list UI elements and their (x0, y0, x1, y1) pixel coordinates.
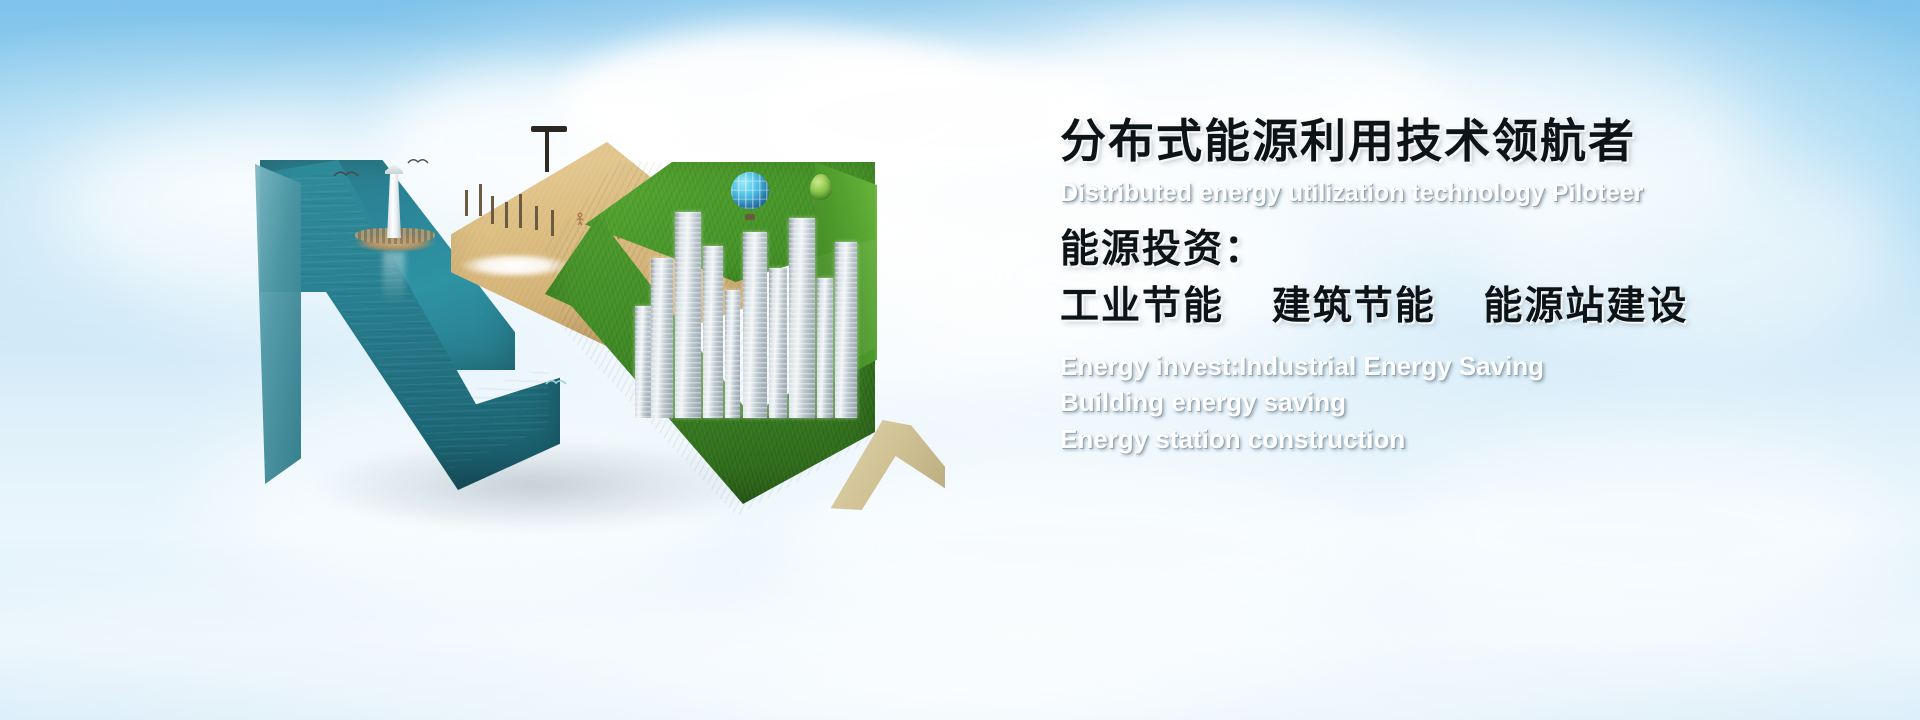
building-shape (789, 218, 815, 418)
service-line-station-en: Energy station construction (1060, 421, 1800, 458)
seagull-icon (545, 376, 567, 388)
service-item-station-zh: 能源站建设 (1483, 285, 1688, 328)
services-chinese: 工业节能 建筑节能 能源站建设 (1060, 287, 1800, 326)
building-shape (725, 290, 740, 418)
lamp-post-icon (545, 128, 549, 172)
lighthouse-reflection (383, 252, 405, 304)
subheadline-english: Distributed energy utilization technolog… (1060, 180, 1800, 208)
headline-chinese: 分布式能源利用技术领航者 (1060, 118, 1800, 164)
lamp-arm-icon (531, 126, 567, 132)
service-item-building-zh: 建筑节能 (1272, 285, 1436, 328)
hot-air-balloon-icon[interactable] (731, 172, 769, 220)
lead-chinese: 能源投资： (1060, 230, 1800, 269)
building-shape (743, 232, 767, 418)
building-shape (675, 212, 701, 418)
landscape-letter-artwork (215, 120, 855, 520)
balloon-stripes (731, 172, 769, 209)
service-item-industrial-zh: 工业节能 (1060, 285, 1224, 328)
seagull-icon (407, 156, 429, 166)
cloud-shape (1380, 430, 1900, 640)
service-line-building-en: Building energy saving (1060, 384, 1800, 421)
building-shape (703, 246, 723, 418)
balloon-basket (745, 214, 754, 220)
city-skyline-icon (635, 188, 870, 418)
leaf-icon (810, 174, 832, 200)
lighthouse-lantern-icon (385, 164, 403, 174)
services-english: Energy invest:Industrial Energy Saving B… (1060, 348, 1800, 459)
banner-copy: 分布式能源利用技术领航者 Distributed energy utilizat… (1060, 118, 1800, 458)
building-shape (651, 258, 673, 418)
service-line-industrial-en: Energy invest:Industrial Energy Saving (1060, 348, 1800, 385)
building-shape (769, 268, 787, 418)
building-shape (835, 242, 857, 418)
building-shape (635, 306, 651, 418)
seagull-icon (333, 168, 359, 180)
building-shape (817, 278, 833, 418)
hero-banner: 分布式能源利用技术领航者 Distributed energy utilizat… (0, 0, 1920, 720)
